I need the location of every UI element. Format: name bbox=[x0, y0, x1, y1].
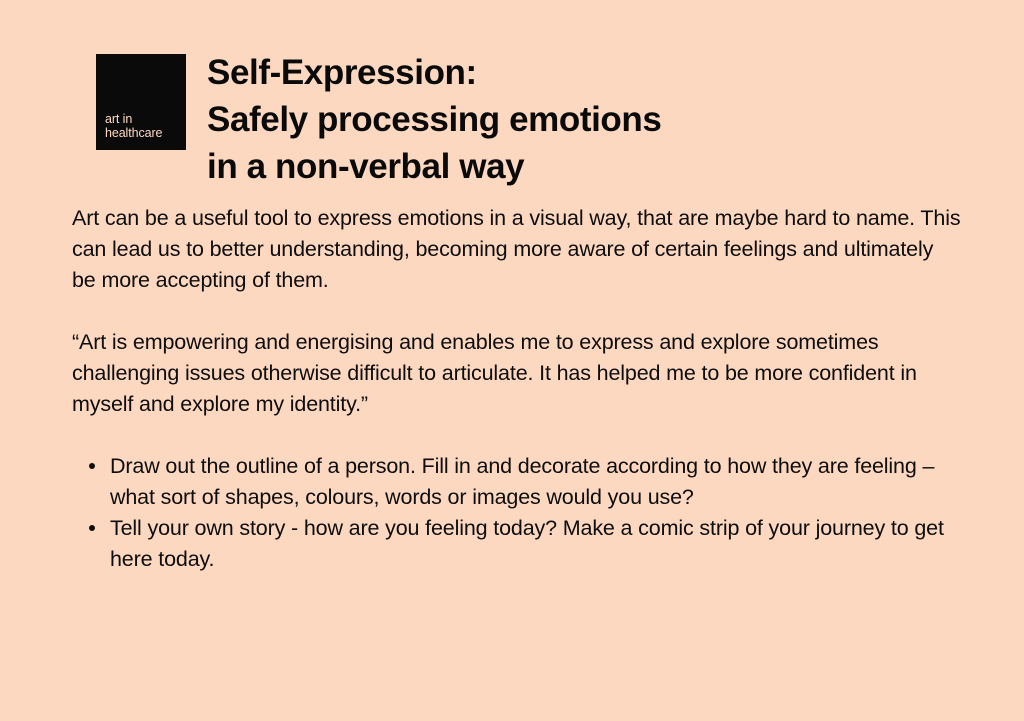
list-item-label: Tell your own story - how are you feelin… bbox=[110, 516, 944, 571]
slide: art in healthcare Self-Expression: Safel… bbox=[0, 0, 1024, 721]
slide-header: art in healthcare Self-Expression: Safel… bbox=[96, 54, 661, 190]
intro-paragraph: Art can be a useful tool to express emot… bbox=[72, 203, 962, 296]
list-item: Tell your own story - how are you feelin… bbox=[72, 513, 962, 575]
bullet-dot-icon bbox=[89, 525, 95, 531]
activity-list: Draw out the outline of a person. Fill i… bbox=[72, 451, 962, 575]
bullet-dot-icon bbox=[89, 463, 95, 469]
slide-body: Art can be a useful tool to express emot… bbox=[72, 203, 962, 575]
quote-paragraph: “Art is empowering and energising and en… bbox=[72, 327, 962, 420]
list-item: Draw out the outline of a person. Fill i… bbox=[72, 451, 962, 513]
art-in-healthcare-logo: art in healthcare bbox=[96, 54, 186, 150]
page-title: Self-Expression: Safely processing emoti… bbox=[207, 49, 661, 190]
list-item-label: Draw out the outline of a person. Fill i… bbox=[110, 454, 934, 509]
logo-wordmark: art in healthcare bbox=[105, 112, 162, 140]
